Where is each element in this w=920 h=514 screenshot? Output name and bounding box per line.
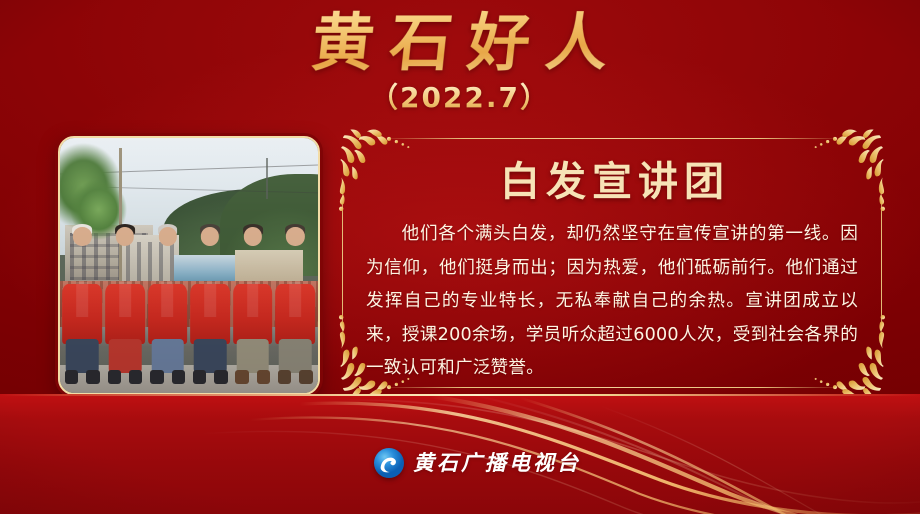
page-title: 黄石好人 [0, 6, 920, 80]
photo-shading-overlay [60, 138, 318, 393]
broadcaster-name: 黄石广播电视台 [413, 451, 581, 475]
group-photo [60, 138, 318, 393]
blue-wave-circle-logo-icon [374, 448, 404, 478]
page-subtitle-date: （2022.7） [0, 82, 920, 114]
broadcaster-brand: 黄石广播电视台 [374, 448, 581, 478]
poster-header: 黄石好人 （2022.7） [0, 0, 920, 130]
photo-frame [58, 136, 320, 395]
story-heading: 白发宣讲团 [336, 158, 888, 206]
story-panel: 白发宣讲团 他们各个满头白发，却仍然坚守在宣传宣讲的第一线。因为信仰，他们挺身而… [336, 132, 888, 394]
footer-divider [0, 394, 920, 396]
panel-bottom-rule [380, 387, 844, 388]
panel-top-rule [380, 138, 844, 139]
story-body-text: 他们各个满头白发，却仍然坚守在宣传宣讲的第一线。因为信仰，他们挺身而出；因为热爱… [366, 224, 858, 378]
poster-canvas: 黄石好人 （2022.7） [0, 0, 920, 514]
story-body: 他们各个满头白发，却仍然坚守在宣传宣讲的第一线。因为信仰，他们挺身而出；因为热爱… [366, 218, 858, 386]
wave-glyph-icon [374, 448, 404, 478]
